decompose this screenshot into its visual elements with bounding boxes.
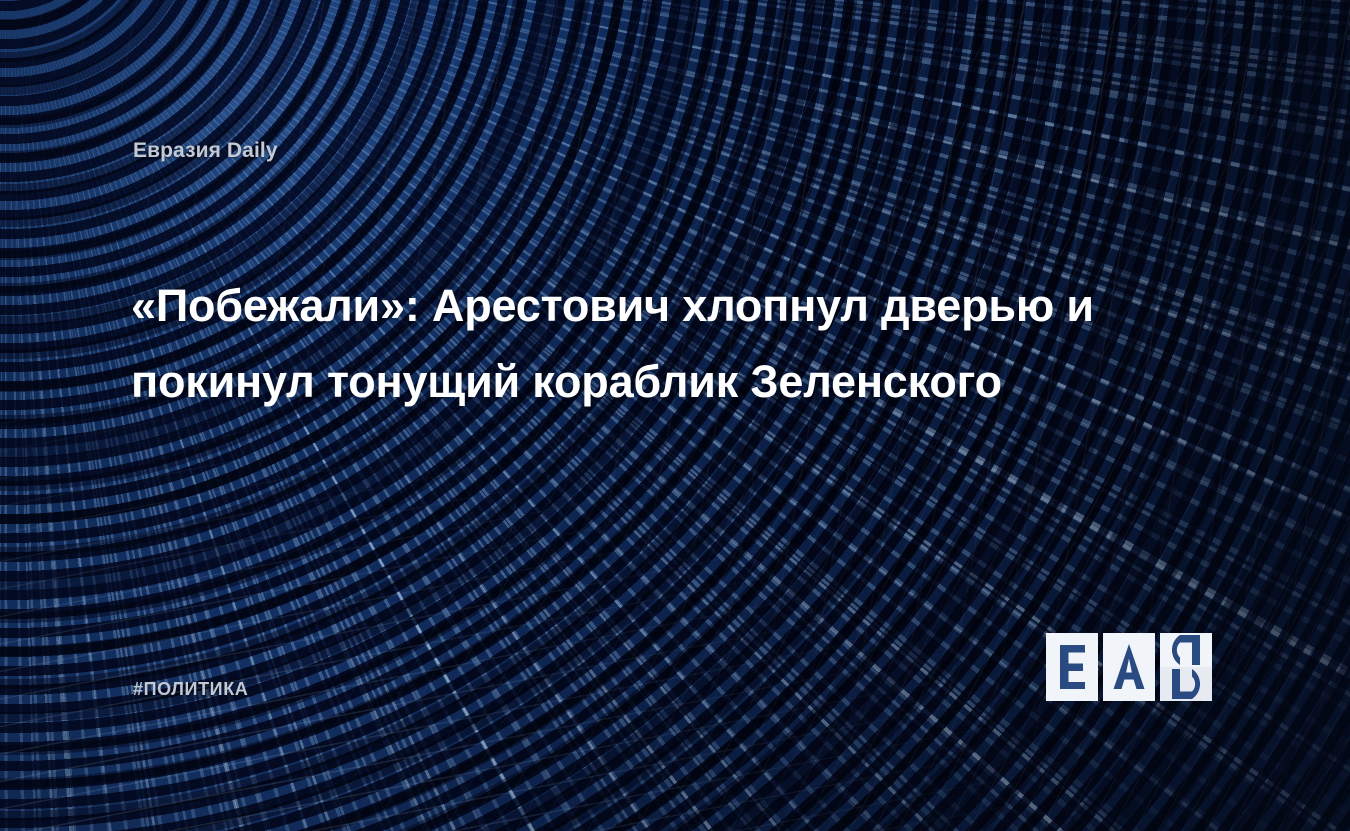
logo-tile-d — [1160, 633, 1212, 701]
category-tag: #ПОЛИТИКА — [133, 679, 248, 700]
logo-tile-d-lower — [1160, 667, 1212, 701]
brand-label: Евразия Daily — [133, 139, 278, 163]
letter-a-icon — [1103, 633, 1155, 701]
letter-e-icon — [1046, 633, 1098, 701]
letter-d-upper-icon — [1160, 633, 1212, 667]
logo-tile-e — [1046, 633, 1098, 701]
logo-tile-d-upper — [1160, 633, 1212, 667]
letter-d-lower-icon — [1160, 667, 1212, 701]
headline: «Побежали»: Арестович хлопнул дверью и п… — [131, 268, 1161, 420]
card-content: Евразия Daily «Побежали»: Арестович хлоп… — [0, 0, 1350, 831]
logo-tile-a — [1103, 633, 1155, 701]
eadaily-logo — [1046, 633, 1212, 701]
news-share-card: Евразия Daily «Побежали»: Арестович хлоп… — [0, 0, 1350, 831]
